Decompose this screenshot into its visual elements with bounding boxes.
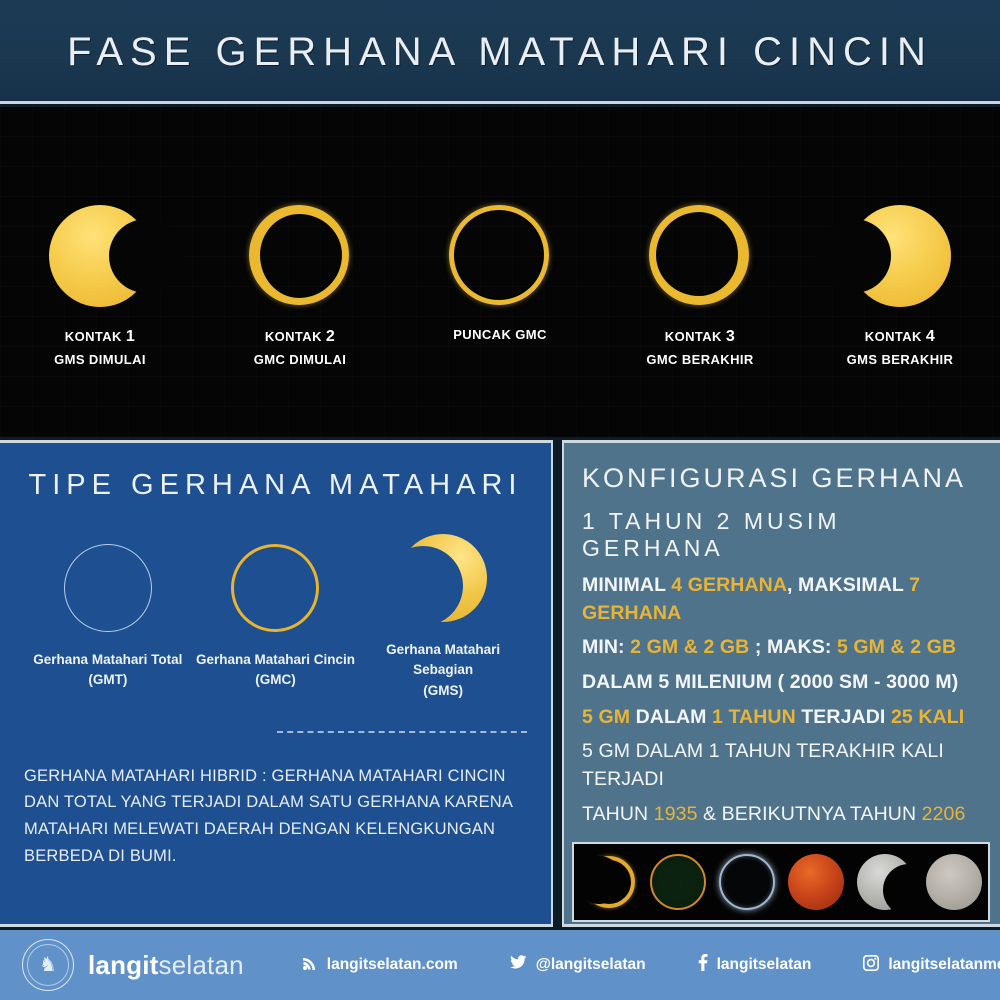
header-banner: FASE GERHANA MATAHARI CINCIN	[0, 0, 1000, 104]
configuration-lead: 1 TAHUN 2 MUSIM GERHANA	[582, 508, 986, 562]
partial-eclipse-crescent-icon	[363, 524, 523, 632]
partial-solar-crescent-photo	[581, 854, 637, 910]
social-label: @langitselatan	[536, 956, 646, 974]
phase-caption: KONTAK 2 GMC DIMULAI	[254, 325, 347, 370]
eclipse-phases-section: KONTAK 1 GMS DIMULAI KONTAK 2 GMC DIMULA…	[0, 107, 1000, 437]
social-label: langitselatanmedia	[888, 956, 1000, 974]
social-facebook-link[interactable]: langitselatan	[698, 954, 812, 976]
phase-item-2: KONTAK 2 GMC DIMULAI	[200, 107, 400, 370]
phase-caption: KONTAK 4 GMS BERAKHIR	[847, 325, 954, 370]
configuration-title: KONFIGURASI GERHANA	[582, 463, 986, 494]
social-label: langitselatan.com	[327, 956, 458, 974]
config-line-min-max: MINIMAL 4 GERHANA, MAKSIMAL 7 GERHANA	[582, 572, 986, 627]
annular-eclipse-photo	[650, 854, 706, 910]
dashed-divider	[277, 731, 527, 733]
total-solar-corona-photo	[719, 854, 775, 910]
eclipse-type-abbr: (GMT)	[88, 672, 127, 687]
eclipse-type-annular: Gerhana Matahari Cincin (GMC)	[195, 534, 355, 691]
hybrid-eclipse-description: GERHANA MATAHARI HIBRID : GERHANA MATAHA…	[24, 763, 527, 870]
partial-sun-left-bite-icon	[849, 205, 951, 307]
social-twitter-link[interactable]: @langitselatan	[510, 955, 646, 975]
eclipse-type-label: Gerhana Matahari Cincin	[196, 652, 355, 667]
phase-caption: PUNCAK GMC	[453, 325, 547, 345]
social-links: langitselatan.com @langitselatan langits…	[302, 954, 1000, 976]
eclipse-type-label: Gerhana Matahari Sebagian	[386, 642, 500, 677]
eclipse-type-label: Gerhana Matahari Total	[33, 652, 182, 667]
annular-ring-icon	[449, 205, 551, 307]
eclipse-type-abbr: (GMS)	[423, 683, 463, 698]
annular-eclipse-ring-icon	[195, 534, 355, 642]
eclipse-types-panel: TIPE GERHANA MATAHARI Gerhana Matahari T…	[0, 440, 553, 927]
partial-sun-right-bite-icon	[49, 205, 151, 307]
phase-item-5: KONTAK 4 GMS BERAKHIR	[800, 107, 1000, 370]
footer-bar: ♞ langitselatan langitselatan.com @langi…	[0, 930, 1000, 1000]
phase-item-4: KONTAK 3 GMC BERAKHIR	[600, 107, 800, 370]
eclipse-photo-strip	[572, 842, 990, 922]
full-moon-photo	[926, 854, 982, 910]
config-line-terakhir: 5 GM DALAM 1 TAHUN TERAKHIR KALI TERJADI	[582, 738, 986, 793]
eclipse-type-abbr: (GMC)	[255, 672, 296, 687]
horse-emblem-icon: ♞	[39, 955, 57, 975]
partial-lunar-eclipse-photo	[857, 854, 913, 910]
eclipse-types-title: TIPE GERHANA MATAHARI	[24, 469, 527, 502]
rss-icon	[302, 955, 318, 976]
facebook-icon	[698, 954, 708, 976]
config-line-tahun: TAHUN 1935 & BERIKUTNYA TAHUN 2206	[582, 801, 986, 829]
phase-caption: KONTAK 3 GMC BERAKHIR	[646, 325, 753, 370]
eclipse-type-partial: Gerhana Matahari Sebagian (GMS)	[363, 524, 523, 701]
phase-item-1: KONTAK 1 GMS DIMULAI	[0, 107, 200, 370]
instagram-icon	[863, 955, 879, 976]
phase-item-3: PUNCAK GMC	[400, 107, 600, 345]
phase-caption: KONTAK 1 GMS DIMULAI	[54, 325, 146, 370]
config-line-5gm: 5 GM DALAM 1 TAHUN TERJADI 25 KALI	[582, 704, 986, 732]
brand-name: langitselatan	[88, 950, 244, 981]
total-eclipse-ring-icon	[28, 534, 188, 642]
annular-ring-icon	[649, 205, 751, 307]
annular-ring-icon	[249, 205, 351, 307]
config-line-min-maks: MIN: 2 GM & 2 GB ; MAKS: 5 GM & 2 GB	[582, 634, 986, 662]
langitselatan-logo: ♞	[22, 939, 74, 991]
social-website-link[interactable]: langitselatan.com	[302, 955, 458, 976]
social-label: langitselatan	[717, 956, 812, 974]
page-title: FASE GERHANA MATAHARI CINCIN	[67, 30, 933, 75]
config-line-milenium: DALAM 5 MILENIUM ( 2000 SM - 3000 M)	[582, 669, 986, 697]
eclipse-type-total: Gerhana Matahari Total (GMT)	[28, 534, 188, 691]
blood-moon-photo	[788, 854, 844, 910]
social-instagram-link[interactable]: langitselatanmedia	[863, 955, 1000, 976]
eclipse-types-list: Gerhana Matahari Total (GMT) Gerhana Mat…	[24, 524, 527, 701]
twitter-icon	[510, 955, 527, 975]
